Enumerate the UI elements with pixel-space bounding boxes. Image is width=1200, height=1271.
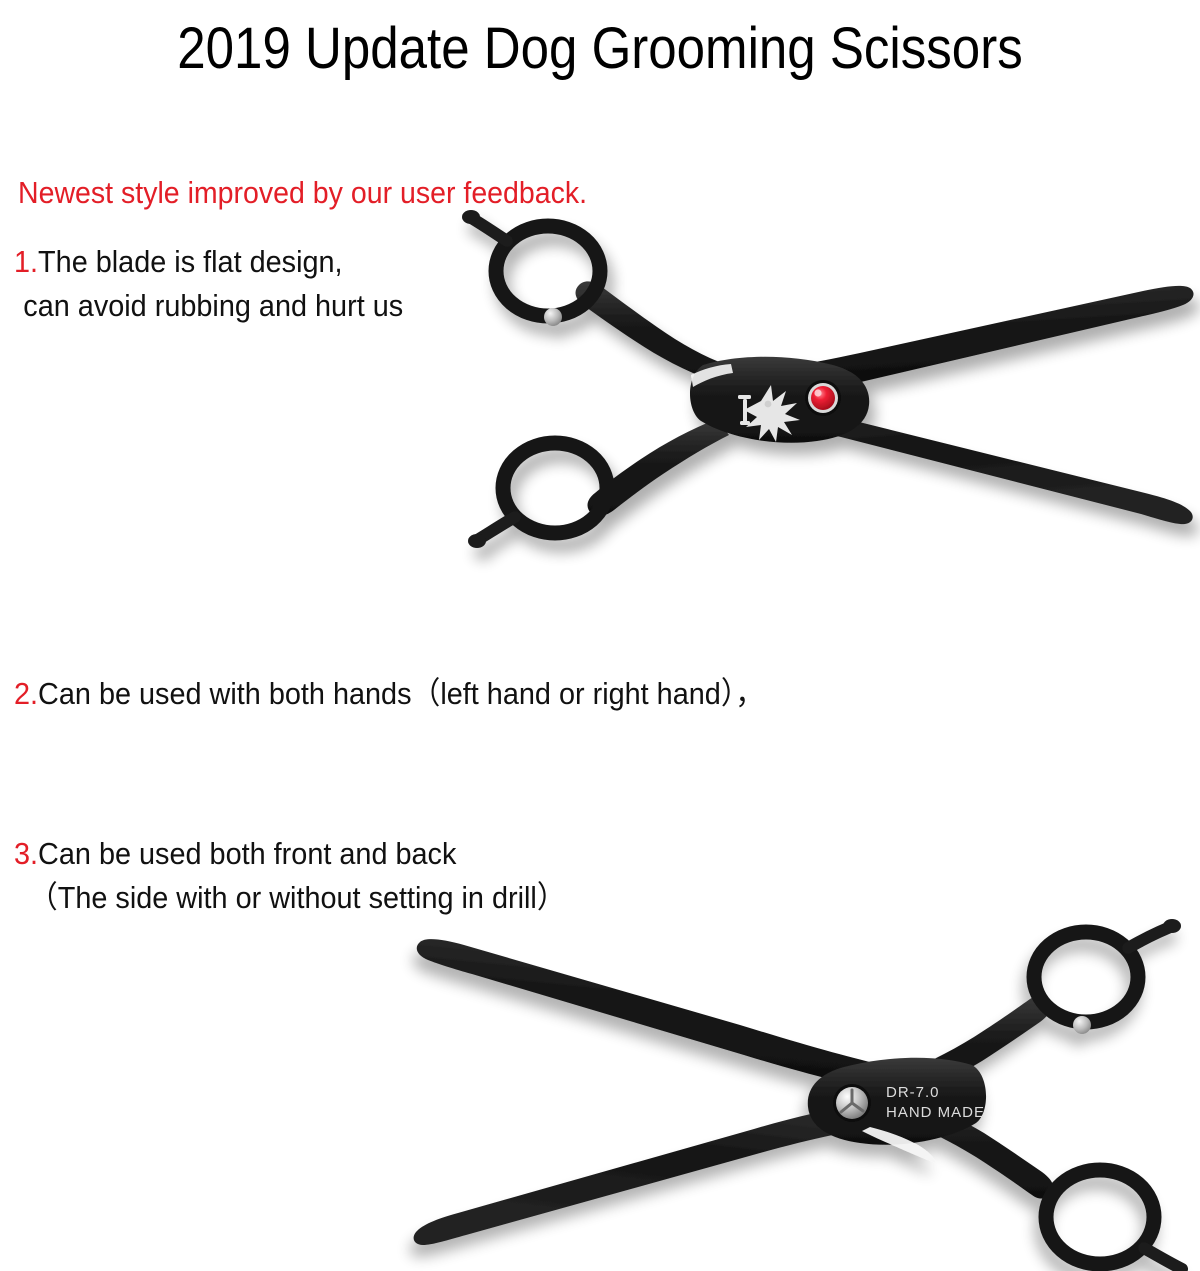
feature-2-number: 2. [14,676,38,711]
lower-right-finger-ring [1046,1170,1154,1264]
product-photo-front [455,205,1200,545]
feature-1-line-1: 1.The blade is flat design, [14,240,403,284]
engraving-line-2: HAND MADE [886,1104,985,1121]
feature-1-number: 1. [14,244,38,279]
feature-3-line-2: （The side with or without setting in dri… [14,876,566,920]
upper-right-tang [1128,928,1168,948]
upper-right-finger-ring [1034,932,1138,1022]
jewel-glint [814,389,821,396]
page-title: 2019 Update Dog Grooming Scissors [72,14,1128,84]
upper-tang-tip [462,210,480,224]
feature-3-number: 3. [14,836,38,871]
lower-tang [479,517,515,539]
red-jewel [811,386,835,410]
upper-tang [473,219,507,241]
feature-item-2: 2.Can be used with both hands（left hand … [14,672,764,716]
lower-right-tang [1144,1248,1182,1269]
engraving-line-1: DR-7.0 [886,1084,940,1101]
upper-right-tang-tip [1163,919,1181,933]
lower-left-blade [414,1103,886,1245]
feature-3-text-1: Can be used both front and back [38,836,456,871]
lower-tang-tip [468,534,486,548]
product-detail-image: 2019 Update Dog Grooming Scissors Newest… [0,0,1200,1271]
feature-3-line-1: 3.Can be used both front and back [14,832,566,876]
feature-2-line-1: 2.Can be used with both hands（left hand … [14,672,764,716]
tension-ball-upper [544,308,562,326]
feature-2-text-1: Can be used with both hands（left hand or… [38,676,764,711]
feature-1-line-2: can avoid rubbing and hurt us [14,284,403,328]
feature-1-text-1: The blade is flat design, [38,244,343,279]
upper-left-blade [417,939,874,1089]
product-photo-back: DR-7.0 HAND MADE [400,915,1200,1271]
feature-item-1: 1.The blade is flat design, can avoid ru… [14,240,403,328]
feature-item-3: 3.Can be used both front and back （The s… [14,832,566,920]
tension-ball-lower [1073,1016,1091,1034]
